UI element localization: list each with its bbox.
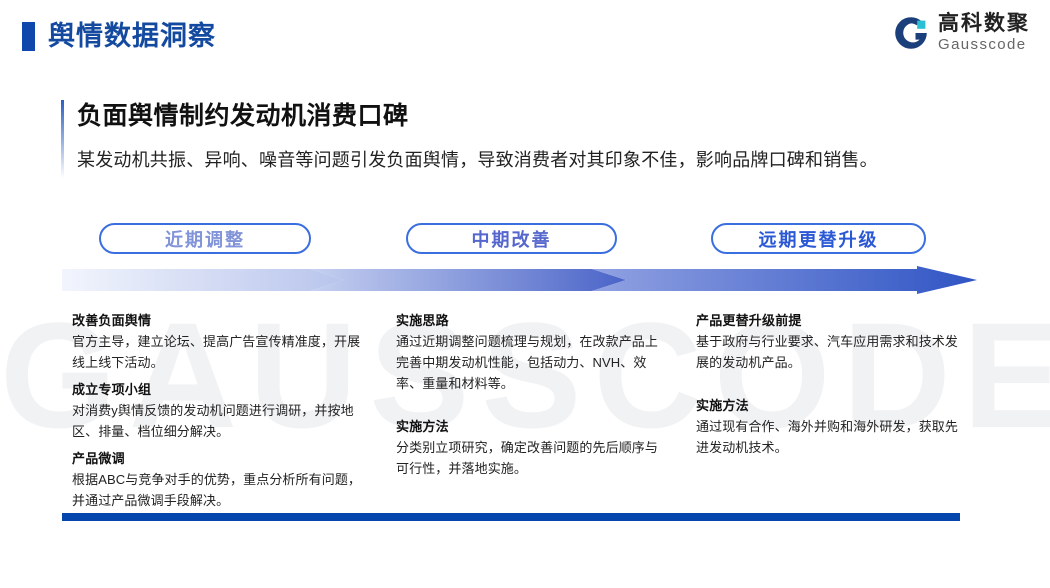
intro-subtitle: 某发动机共振、异响、噪音等问题引发负面舆情，导致消费者对其印象不佳，影响品牌口碑… xyxy=(77,146,1012,174)
detail-block-body: 官方主导，建立论坛、提高广告宣传精准度，开展线上线下活动。 xyxy=(72,331,367,373)
brand-logo: 高科数聚 Gausscode xyxy=(893,13,1030,52)
detail-block-body: 通过近期调整问题梳理与规划，在改款产品上完善中期发动机性能，包括动力、NVH、效… xyxy=(396,331,668,394)
detail-block-title: 实施思路 xyxy=(396,310,668,331)
detail-block-title: 改善负面舆情 xyxy=(72,310,367,331)
detail-block: 实施方法 通过现有合作、海外并购和海外研发，获取先进发动机技术。 xyxy=(696,395,968,458)
header-bullet-icon xyxy=(22,22,35,51)
stage-pill-row: 近期调整 中期改善 远期更替升级 xyxy=(0,223,1050,257)
intro-heading: 负面舆情制约发动机消费口碑 xyxy=(77,96,1012,136)
detail-block: 实施思路 通过近期调整问题梳理与规划，在改款产品上完善中期发动机性能，包括动力、… xyxy=(396,310,668,394)
stage-pill-long-term[interactable]: 远期更替升级 xyxy=(711,223,926,254)
detail-block: 实施方法 分类别立项研究，确定改善问题的先后顺序与可行性，并落地实施。 xyxy=(396,416,668,479)
detail-block-title: 实施方法 xyxy=(696,395,968,416)
detail-block-title: 产品更替升级前提 xyxy=(696,310,968,331)
timeline-arrow xyxy=(62,266,977,294)
column-mid-term: 实施思路 通过近期调整问题梳理与规划，在改款产品上完善中期发动机性能，包括动力、… xyxy=(396,310,668,485)
detail-block-body: 根据ABC与竞争对手的优势，重点分析所有问题，并通过产品微调手段解决。 xyxy=(72,469,367,511)
detail-block-body: 基于政府与行业要求、汽车应用需求和技术发展的发动机产品。 xyxy=(696,331,968,373)
detail-block-body: 对消费y舆情反馈的发动机问题进行调研，并按地区、排量、档位细分解决。 xyxy=(72,400,367,442)
detail-block: 产品微调 根据ABC与竞争对手的优势，重点分析所有问题，并通过产品微调手段解决。 xyxy=(72,448,367,511)
detail-block-title: 实施方法 xyxy=(396,416,668,437)
gausscode-logo-icon xyxy=(893,15,929,51)
page-title: 舆情数据洞察 xyxy=(48,18,216,54)
detail-block: 产品更替升级前提 基于政府与行业要求、汽车应用需求和技术发展的发动机产品。 xyxy=(696,310,968,373)
intro-accent-rule xyxy=(61,100,64,178)
stage-pill-near-term[interactable]: 近期调整 xyxy=(99,223,311,254)
detail-block-title: 产品微调 xyxy=(72,448,367,469)
detail-block-body: 通过现有合作、海外并购和海外研发，获取先进发动机技术。 xyxy=(696,416,968,458)
stage-pill-mid-term[interactable]: 中期改善 xyxy=(406,223,617,254)
column-long-term: 产品更替升级前提 基于政府与行业要求、汽车应用需求和技术发展的发动机产品。 实施… xyxy=(696,310,968,464)
detail-block: 成立专项小组 对消费y舆情反馈的发动机问题进行调研，并按地区、排量、档位细分解决… xyxy=(72,379,367,442)
detail-block: 改善负面舆情 官方主导，建立论坛、提高广告宣传精准度，开展线上线下活动。 xyxy=(72,310,367,373)
detail-block-body: 分类别立项研究，确定改善问题的先后顺序与可行性，并落地实施。 xyxy=(396,437,668,479)
logo-text-en: Gausscode xyxy=(938,37,1030,52)
detail-block-title: 成立专项小组 xyxy=(72,379,367,400)
column-near-term: 改善负面舆情 官方主导，建立论坛、提高广告宣传精准度，开展线上线下活动。 成立专… xyxy=(72,310,367,517)
intro-block: 负面舆情制约发动机消费口碑 某发动机共振、异响、噪音等问题引发负面舆情，导致消费… xyxy=(62,96,1012,174)
footer-bar xyxy=(62,513,960,521)
logo-text-cn: 高科数聚 xyxy=(938,13,1030,34)
